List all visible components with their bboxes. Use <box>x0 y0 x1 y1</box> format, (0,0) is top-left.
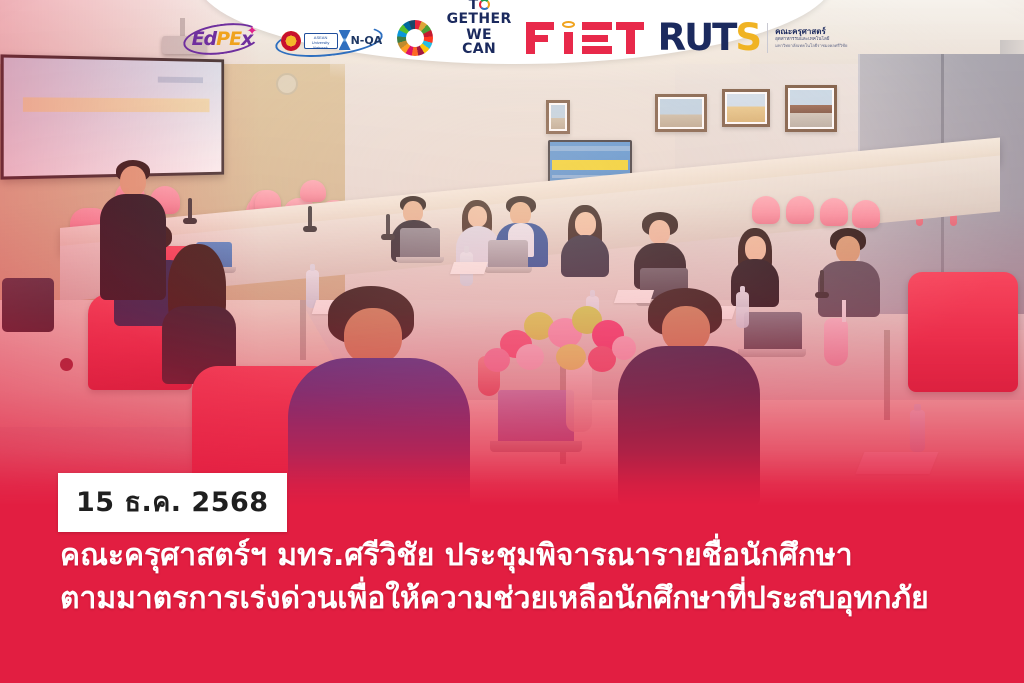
ruts-logo: RUTS คณะครุศาสตร์ อุตสาหกรรมและเทคโนโลยี… <box>658 19 848 56</box>
date-badge: 15 ธ.ค. 2568 <box>58 473 287 532</box>
headline-line-1: คณะครุศาสตร์ฯ มทร.ศรีวิชัย ประชุมพิจารณา… <box>60 535 980 578</box>
logo-banner: EdPEx ✦ ASEANUniversityNetwork N-QA TGET… <box>196 0 834 64</box>
sdg-wheel-logo <box>397 20 433 56</box>
faculty-name-line1: คณะครุศาสตร์ <box>775 27 847 37</box>
sdg-ring-icon <box>479 0 490 10</box>
sdg-wheel-hub <box>407 30 423 46</box>
fiet-logo <box>526 18 644 56</box>
logo-divider <box>767 23 768 53</box>
together-we-can-line1: TGETHER <box>447 0 512 26</box>
ruts-logo-text: RUTS <box>658 19 760 56</box>
together-we-can-line2: WE CAN <box>447 28 512 56</box>
aunqa-logo-text: N-QA <box>351 34 383 47</box>
headline-line-2: ตามมาตรการเร่งด่วนเพื่อให้ความช่วยเหลือน… <box>60 578 980 621</box>
together-we-can-logo: TGETHER WE CAN <box>447 0 512 56</box>
sdg-wheel-icon <box>397 20 433 56</box>
aun-qa-logo: ASEANUniversityNetwork N-QA <box>275 26 383 56</box>
aunqa-university-mark: ASEANUniversityNetwork <box>304 33 338 49</box>
aunqa-seal-icon <box>281 31 301 51</box>
faculty-mark: คณะครุศาสตร์ อุตสาหกรรมและเทคโนโลยี มหาว… <box>775 27 847 48</box>
fiet-dot-icon <box>562 21 575 28</box>
headline: คณะครุศาสตร์ฯ มทร.ศรีวิชัย ประชุมพิจารณา… <box>60 535 980 620</box>
poster-root: EdPEx ✦ ASEANUniversityNetwork N-QA TGET… <box>0 0 1024 683</box>
faculty-name-line3: มหาวิทยาลัยเทคโนโลยีราชมงคลศรีวิชัย <box>775 43 847 48</box>
edpex-star-icon: ✦ <box>247 23 258 39</box>
edpex-logo-text: EdPEx <box>192 28 253 50</box>
edpex-logo: EdPEx ✦ <box>183 22 261 56</box>
